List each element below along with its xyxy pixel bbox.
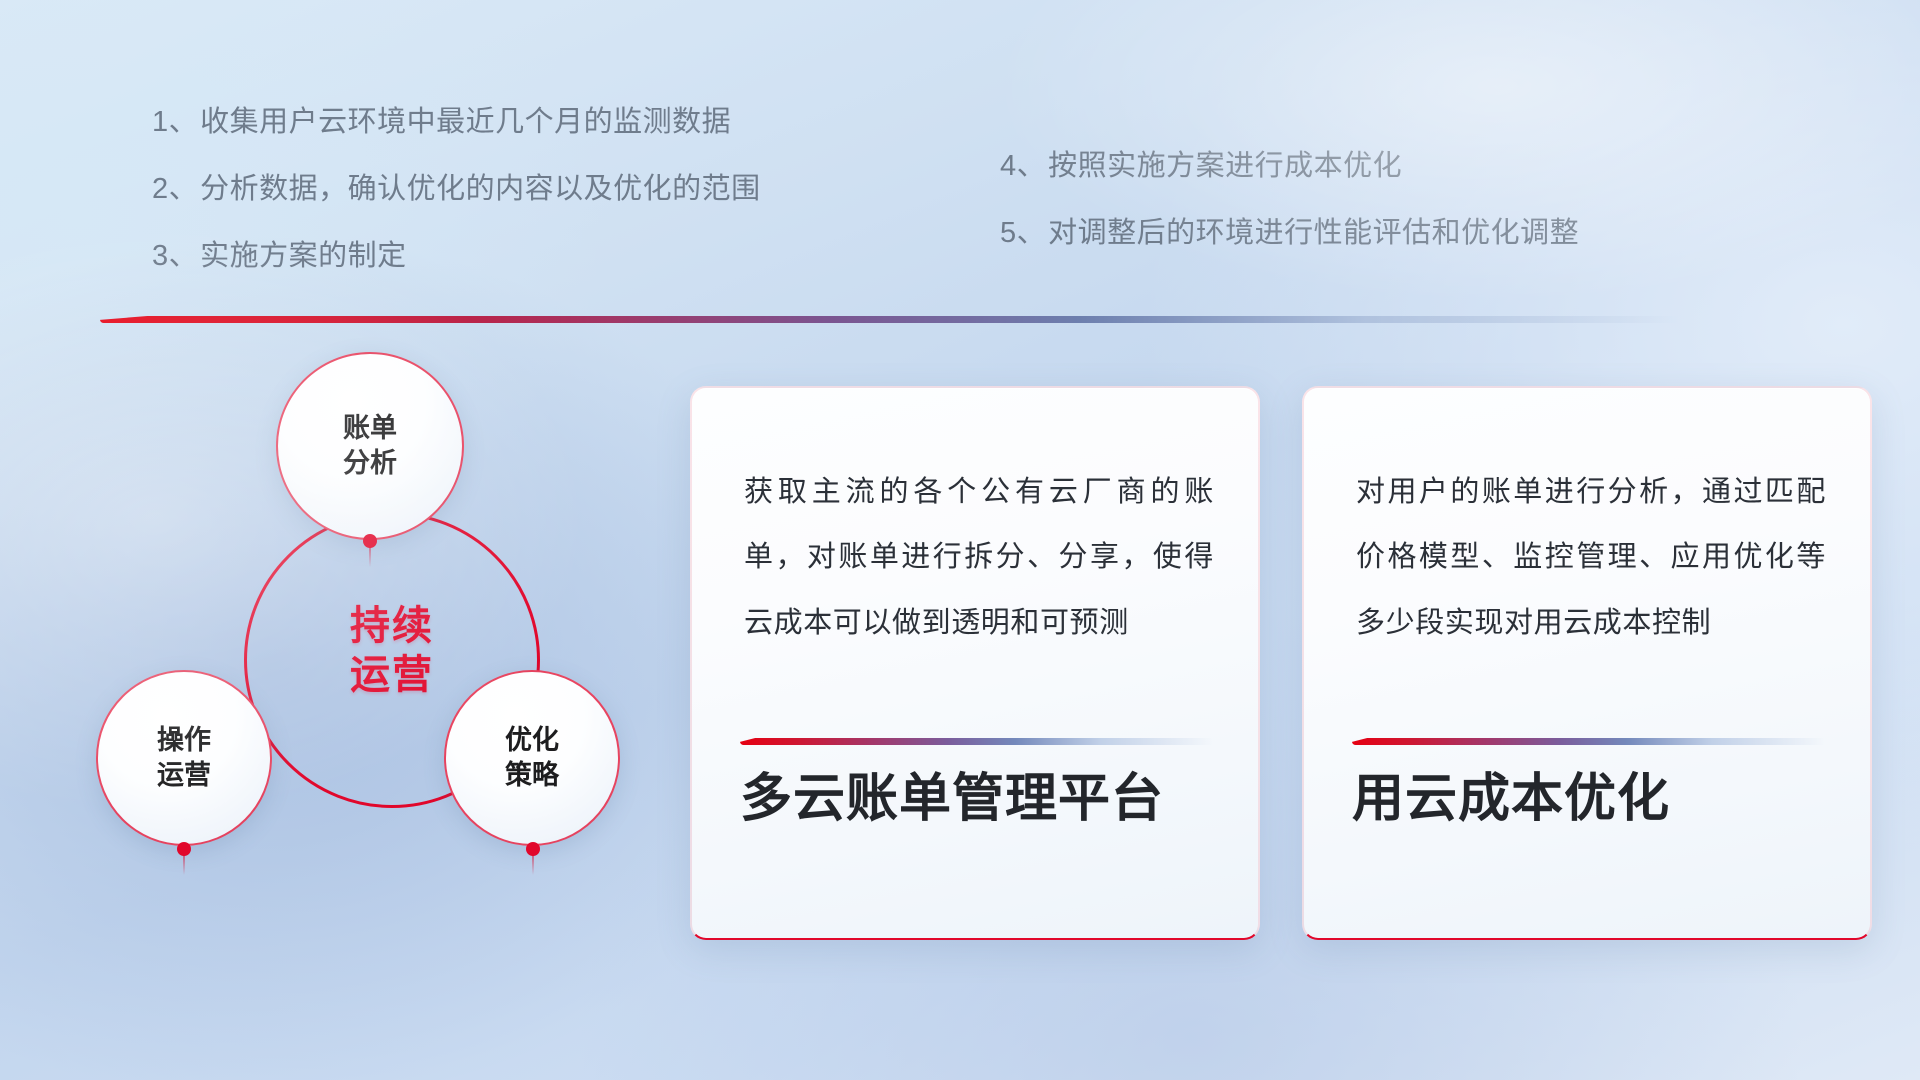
node-dot	[526, 842, 540, 856]
node-dot	[177, 842, 191, 856]
card-body-text: 获取主流的各个公有云厂商的账单，对账单进行拆分、分享，使得云成本可以做到透明和可…	[744, 460, 1214, 656]
header-divider	[100, 316, 1680, 323]
node-label-line1: 操作	[157, 723, 211, 758]
list-item-label: 分析数据，确认优化的内容以及优化的范围	[200, 175, 761, 204]
feature-card-multicloud-billing[interactable]: 获取主流的各个公有云厂商的账单，对账单进行拆分、分享，使得云成本可以做到透明和可…	[690, 386, 1260, 940]
diagram-node-operations[interactable]: 操作 运营	[96, 670, 272, 846]
card-body-text: 对用户的账单进行分析，通过匹配价格模型、监控管理、应用优化等多少段实现对用云成本…	[1356, 460, 1826, 656]
list-item: 1、 收集用户云环境中最近几个月的监测数据	[152, 108, 761, 137]
diagram-center-label: 持续 运营	[292, 602, 492, 700]
center-label-line1: 持续	[292, 602, 492, 651]
list-item-label: 对调整后的环境进行性能评估和优化调整	[1048, 219, 1579, 248]
list-item: 3、 实施方案的制定	[152, 242, 761, 271]
node-dot	[363, 534, 377, 548]
list-item: 2、 分析数据，确认优化的内容以及优化的范围	[152, 175, 761, 204]
node-label-line2: 策略	[505, 758, 559, 793]
list-item-label: 收集用户云环境中最近几个月的监测数据	[200, 108, 731, 137]
list-item-number: 2、	[152, 175, 198, 204]
list-item-label: 实施方案的制定	[200, 242, 407, 271]
feature-card-cost-optimization[interactable]: 对用户的账单进行分析，通过匹配价格模型、监控管理、应用优化等多少段实现对用云成本…	[1302, 386, 1872, 940]
node-tail	[183, 855, 185, 875]
node-label-line1: 优化	[505, 723, 559, 758]
list-item: 5、 对调整后的环境进行性能评估和优化调整	[1000, 219, 1579, 248]
list-item-number: 1、	[152, 108, 198, 137]
card-title: 多云账单管理平台	[740, 770, 1218, 830]
steps-list-left: 1、 收集用户云环境中最近几个月的监测数据 2、 分析数据，确认优化的内容以及优…	[152, 108, 761, 309]
node-tail	[532, 855, 534, 875]
diagram-node-bill-analysis[interactable]: 账单 分析	[276, 352, 464, 540]
node-label-line2: 分析	[343, 446, 397, 481]
node-tail	[369, 547, 371, 567]
cycle-diagram: 持续 运营 账单 分析 操作 运营 优化 策略	[96, 352, 656, 952]
list-item-number: 5、	[1000, 219, 1046, 248]
node-label-line2: 运营	[157, 758, 211, 793]
list-item-number: 3、	[152, 242, 198, 271]
card-title: 用云成本优化	[1352, 770, 1830, 830]
node-label-line1: 账单	[343, 411, 397, 446]
card-divider	[1352, 738, 1826, 745]
list-item-label: 按照实施方案进行成本优化	[1048, 152, 1402, 181]
list-item: 4、 按照实施方案进行成本优化	[1000, 152, 1579, 181]
slide-canvas: 1、 收集用户云环境中最近几个月的监测数据 2、 分析数据，确认优化的内容以及优…	[0, 0, 1920, 1080]
diagram-node-optimization-strategy[interactable]: 优化 策略	[444, 670, 620, 846]
card-divider	[740, 738, 1214, 745]
center-label-line2: 运营	[292, 651, 492, 700]
list-item-number: 4、	[1000, 152, 1046, 181]
steps-list-right: 4、 按照实施方案进行成本优化 5、 对调整后的环境进行性能评估和优化调整	[1000, 152, 1579, 286]
